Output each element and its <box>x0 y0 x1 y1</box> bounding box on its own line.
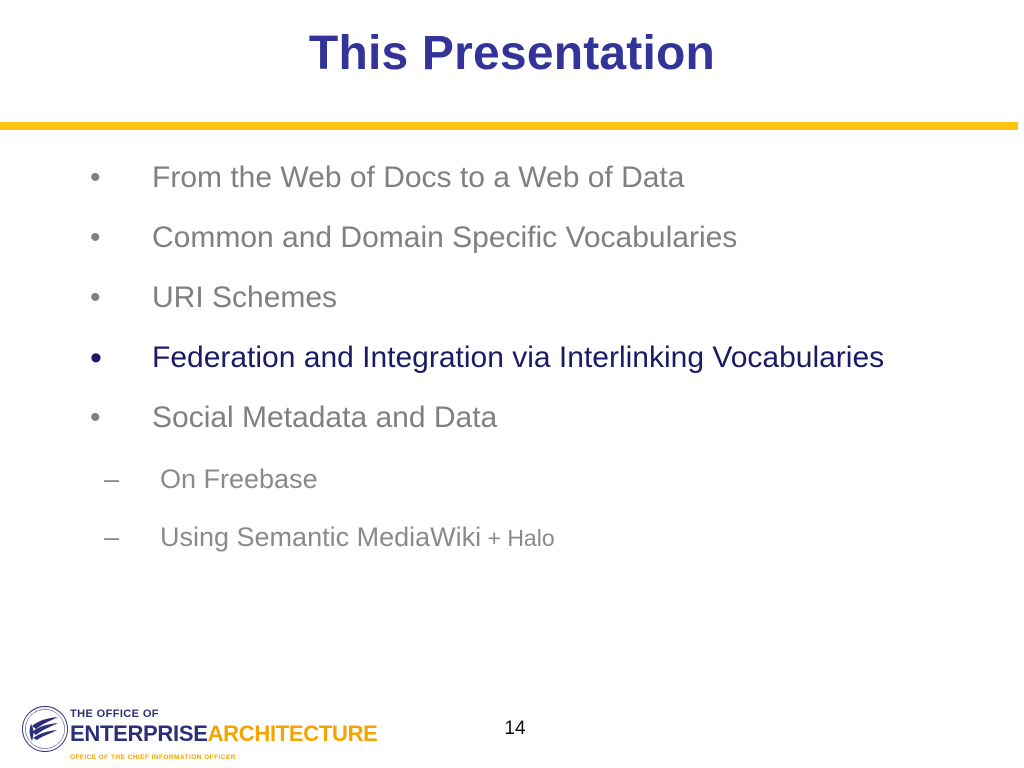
list-item[interactable]: • From the Web of Docs to a Web of Data <box>0 150 1024 210</box>
logo-line-office-of: THE OFFICE OF <box>70 708 159 720</box>
sub-list-item-suffix-text: + Halo <box>481 525 555 551</box>
list-item[interactable]: • URI Schemes <box>0 270 1024 330</box>
list-item-label: Social Metadata and Data <box>152 390 984 446</box>
title-divider-rule <box>0 122 1018 130</box>
logo-line-cio: OFFICE OF THE CHIEF INFORMATION OFFICER <box>70 754 236 761</box>
list-item[interactable]: • Social Metadata and Data <box>0 390 1024 450</box>
organization-logo: THE OFFICE OF ENTERPRISEARCHITECTURE OFF… <box>18 702 348 758</box>
bullet-marker-icon: • <box>90 270 101 326</box>
sub-list-item-main-text: Using Semantic MediaWiki <box>160 522 481 552</box>
dash-marker-icon: – <box>104 508 119 566</box>
list-item-label: Common and Domain Specific Vocabularies <box>152 210 984 266</box>
bullet-marker-icon: • <box>90 390 101 446</box>
bullet-marker-icon: • <box>90 330 102 386</box>
logo-line-enterprise-architecture: ENTERPRISEARCHITECTURE <box>70 721 378 746</box>
list-item-label: URI Schemes <box>152 270 984 326</box>
list-item[interactable]: • Common and Domain Specific Vocabularie… <box>0 210 1024 270</box>
logo-word-enterprise: ENTERPRISE <box>70 721 208 746</box>
list-item-label: From the Web of Docs to a Web of Data <box>152 150 984 206</box>
slide: This Presentation • From the Web of Docs… <box>0 0 1024 768</box>
sub-list-item[interactable]: – Using Semantic MediaWiki + Halo <box>0 508 1024 567</box>
bullet-marker-icon: • <box>90 150 101 206</box>
bullet-list: • From the Web of Docs to a Web of Data … <box>0 150 1024 567</box>
page-number: 14 <box>470 718 560 740</box>
sub-list-item-label: Using Semantic MediaWiki + Halo <box>160 508 1024 567</box>
sub-list-item-label: On Freebase <box>160 450 1024 508</box>
page-title: This Presentation <box>0 28 1024 80</box>
bullet-marker-icon: • <box>90 210 101 266</box>
list-item-highlighted[interactable]: • Federation and Integration via Interli… <box>0 330 1024 390</box>
hhs-seal-icon <box>20 704 70 754</box>
logo-wordmark: THE OFFICE OF ENTERPRISEARCHITECTURE OFF… <box>70 704 348 764</box>
sub-list-item[interactable]: – On Freebase <box>0 450 1024 508</box>
list-item-label: Federation and Integration via Interlink… <box>152 330 912 386</box>
logo-word-architecture: ARCHITECTURE <box>208 721 378 746</box>
dash-marker-icon: – <box>104 450 119 508</box>
